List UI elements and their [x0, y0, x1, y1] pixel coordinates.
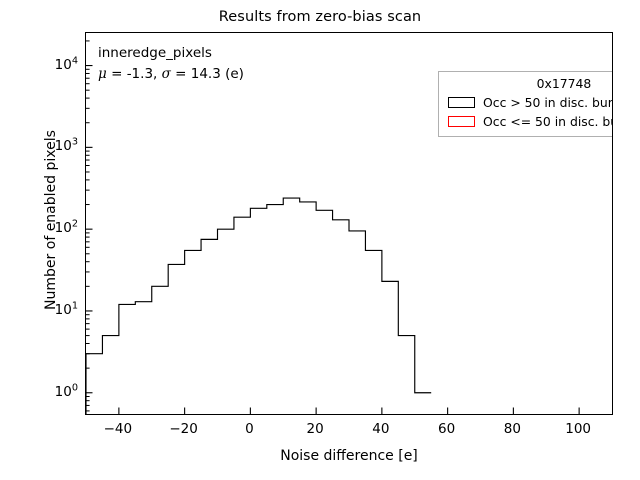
y-axis-tick-marks	[86, 41, 93, 411]
y-tick-label: 100	[55, 384, 78, 400]
sigma-symbol: σ	[162, 66, 171, 82]
sigma-value: 14.3	[191, 66, 221, 82]
legend-title: 0x17748	[446, 76, 613, 91]
legend-swatch-red	[448, 116, 475, 127]
x-tick-label: 100	[565, 421, 591, 437]
legend-swatch-black	[448, 97, 475, 108]
x-tick-label: 40	[372, 421, 389, 437]
y-axis-title: Number of enabled pixels	[43, 70, 59, 370]
x-tick-label: 80	[504, 421, 521, 437]
legend: 0x17748 Occ > 50 in disc. bump scan Occ …	[438, 71, 613, 137]
chart-figure: Results from zero-bias scan 100101102103…	[0, 0, 640, 480]
x-tick-label: 0	[245, 421, 254, 437]
annotation-name: inneredge_pixels	[98, 43, 244, 64]
x-tick-label: −40	[104, 421, 133, 437]
x-tick-label: 20	[307, 421, 324, 437]
chart-title: Results from zero-bias scan	[0, 9, 640, 25]
stats-annotation: inneredge_pixels μ = -1.3, σ = 14.3 (e)	[98, 43, 244, 85]
histogram-step-trace	[86, 198, 431, 414]
plot-area: inneredge_pixels μ = -1.3, σ = 14.3 (e) …	[85, 32, 613, 415]
legend-item: Occ <= 50 in disc. bump scan	[446, 112, 613, 131]
legend-label: Occ <= 50 in disc. bump scan	[483, 114, 613, 129]
x-axis-title: Noise difference [e]	[85, 448, 613, 464]
annotation-stats: μ = -1.3, σ = 14.3 (e)	[98, 64, 244, 85]
x-tick-label: −20	[169, 421, 198, 437]
mu-value: -1.3	[127, 66, 153, 82]
y-axis-tick-labels: 100101102103104	[0, 0, 78, 480]
mu-symbol: μ	[98, 66, 107, 82]
legend-label: Occ > 50 in disc. bump scan	[483, 95, 613, 110]
stats-unit: (e)	[225, 66, 244, 82]
legend-item: Occ > 50 in disc. bump scan	[446, 93, 613, 112]
x-axis-tick-marks	[119, 408, 579, 415]
x-tick-label: 60	[438, 421, 455, 437]
